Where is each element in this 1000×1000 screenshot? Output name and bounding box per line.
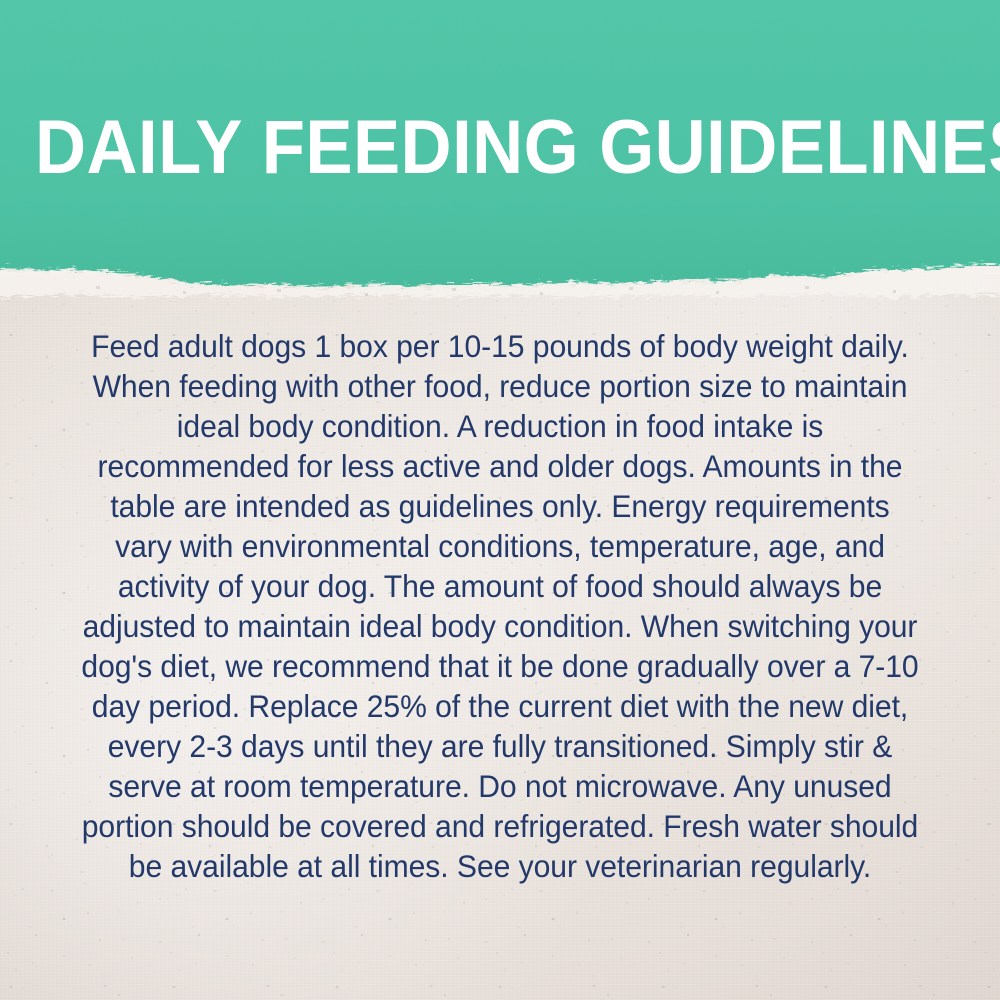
page-title: DAILY FEEDING GUIDELINES <box>35 108 965 188</box>
feeding-guidelines-panel: DAILY FEEDING GUIDELINES Feed adult dogs… <box>0 0 1000 1000</box>
feeding-instructions-text: Feed adult dogs 1 box per 10-15 pounds o… <box>80 326 920 886</box>
